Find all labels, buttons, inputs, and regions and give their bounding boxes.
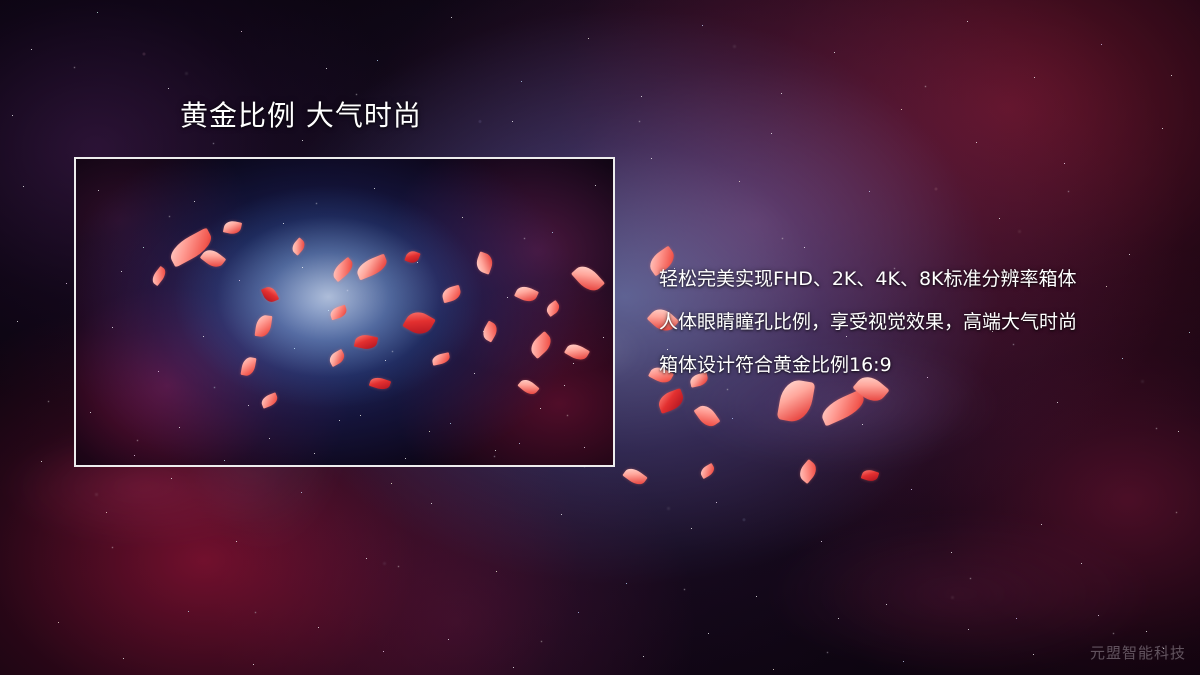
petal [861,468,880,483]
body-line: 箱体设计符合黄金比例16:9 [659,344,1179,387]
petal [694,402,721,431]
watermark: 元盟智能科技 [1090,642,1186,663]
petal [622,465,647,488]
petal [796,459,820,484]
image-frame [74,157,615,467]
starfield-large [0,0,1,1]
body-line: 轻松完美实现FHD、2K、4K、8K标准分辨率箱体 [659,258,1179,301]
page-title: 黄金比例 大气时尚 [180,102,422,130]
presentation-slide: 黄金比例 大气时尚 [0,0,1200,675]
petal [656,388,687,414]
petal [699,463,717,479]
framed-starfield-large [76,159,77,160]
body-text-block: 轻松完美实现FHD、2K、4K、8K标准分辨率箱体 人体眼睛瞳孔比例，享受视觉效… [659,258,1179,387]
body-line: 人体眼睛瞳孔比例，享受视觉效果，高端大气时尚 [659,301,1179,344]
